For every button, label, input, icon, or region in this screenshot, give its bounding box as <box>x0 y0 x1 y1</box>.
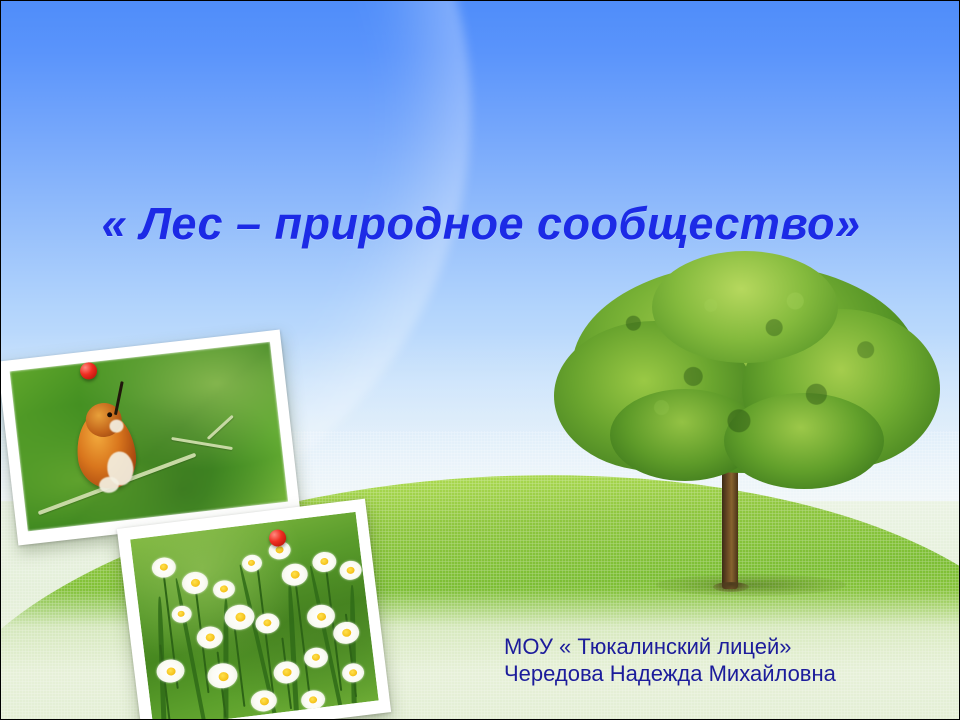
daisies-photo-image <box>130 512 378 720</box>
author-credit: МОУ « Тюкалинский лицей» Чередова Надежд… <box>504 633 836 687</box>
daisy-flower <box>171 605 193 624</box>
daisy-flower <box>241 554 263 573</box>
daisy-flower <box>341 662 365 684</box>
daisy-flower <box>206 662 239 690</box>
oak-tree-illustration <box>546 249 946 594</box>
bird-photo-background <box>10 342 289 532</box>
daisy-flower <box>223 603 256 631</box>
daisy-flower <box>280 562 308 587</box>
daisy-flower <box>250 689 278 713</box>
daisy-flower <box>303 646 329 669</box>
daisy-flower <box>155 658 186 684</box>
presentation-slide: « Лес – природное сообщество» МОУ « Тюка… <box>0 0 960 720</box>
daisy-flower <box>254 612 280 635</box>
daisy-flower <box>212 579 236 600</box>
school-name: МОУ « Тюкалинский лицей» <box>504 633 836 660</box>
daisy-flower <box>311 551 337 574</box>
daisy-flower <box>332 620 360 645</box>
tree-ground-shadow <box>656 574 846 596</box>
tree-canopy-leaf-texture <box>570 261 922 483</box>
daisy-flower <box>196 625 224 650</box>
daisies-photo[interactable] <box>117 499 391 720</box>
daisy-flower <box>272 660 300 685</box>
daisy-flower <box>300 689 326 711</box>
daisy-flower <box>181 570 209 595</box>
daisy-flower <box>151 556 177 579</box>
page-title: « Лес – природное сообщество» <box>1 198 960 250</box>
daisy-flower <box>339 560 363 582</box>
author-name: Чередова Надежда Михайловна <box>504 660 836 687</box>
bird-photo-image <box>10 342 289 532</box>
